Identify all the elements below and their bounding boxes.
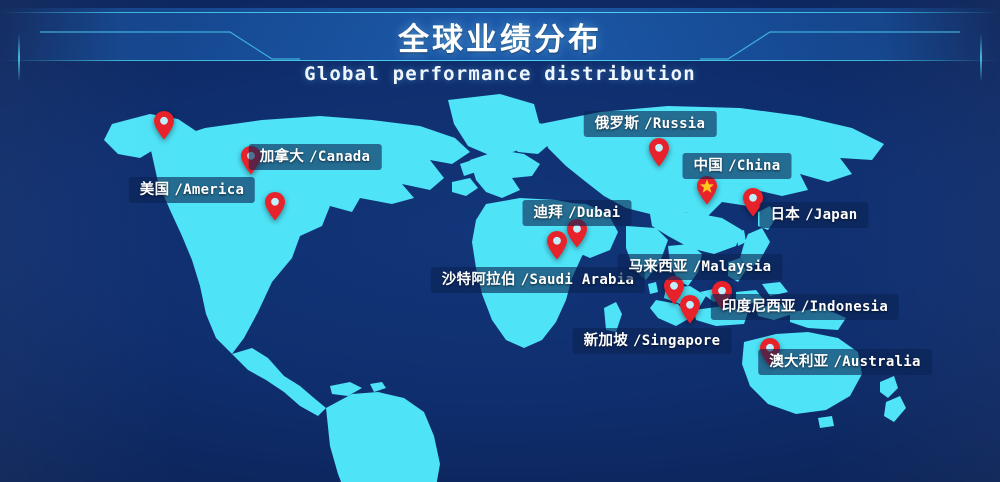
map-label-japan[interactable]: 日本/Japan [760,202,869,228]
header-bottom-rule [0,60,1000,61]
map-label-en: /Japan [805,202,857,228]
map-label-en: /Singapore [633,328,720,354]
map-label-cn: 新加坡 [584,328,628,354]
map-label-en: /Russia [644,111,705,137]
map-label-cn: 印度尼西亚 [722,294,796,320]
map-label-cn: 日本 [771,202,801,228]
map-label-cn: 美国 [140,177,170,203]
map-label-en: /Dubai [568,200,620,226]
map-label-russia[interactable]: 俄罗斯/Russia [584,111,717,137]
map-label-malaysia[interactable]: 马来西亚/Malaysia [618,254,783,280]
map-label-dubai[interactable]: 迪拜/Dubai [523,200,632,226]
map-label-cn: 俄罗斯 [595,111,639,137]
map-label-en: /Malaysia [693,254,772,280]
map-label-cn: 加拿大 [260,144,304,170]
map-label-singapore[interactable]: 新加坡/Singapore [573,328,732,354]
map-label-en: /China [728,153,780,179]
map-label-en: /Indonesia [801,294,888,320]
map-label-china[interactable]: 中国/China [683,153,792,179]
map-label-saudi[interactable]: 沙特阿拉伯/Saudi Arabia [431,267,645,293]
map-pin-icon[interactable] [153,110,175,140]
map-label-cn: 沙特阿拉伯 [442,267,516,293]
map-label-cn: 中国 [694,153,724,179]
map-label-cn: 澳大利亚 [769,349,828,375]
map-label-cn: 马来西亚 [629,254,688,280]
map-label-en: /America [174,177,244,203]
header-top-rule [0,12,1000,13]
map-label-america[interactable]: 美国/America [129,177,255,203]
map-label-en: /Canada [309,144,370,170]
page-title-cn: 全球业绩分布 [0,14,1000,59]
map-pin-icon[interactable] [264,191,286,221]
map-pin-star-icon[interactable] [696,175,718,205]
map-pin-icon[interactable] [648,137,670,167]
map-label-indonesia[interactable]: 印度尼西亚/Indonesia [711,294,899,320]
map-label-cn: 迪拜 [534,200,564,226]
map-pin-icon[interactable] [546,230,568,260]
page-subtitle-en: Global performance distribution [0,63,1000,85]
map-pin-icon[interactable] [679,294,701,324]
map-label-canada[interactable]: 加拿大/Canada [249,144,382,170]
global-distribution-banner: 全球业绩分布 Global performance distribution [0,0,1000,482]
map-label-en: /Australia [833,349,920,375]
map-label-australia[interactable]: 澳大利亚/Australia [758,349,932,375]
